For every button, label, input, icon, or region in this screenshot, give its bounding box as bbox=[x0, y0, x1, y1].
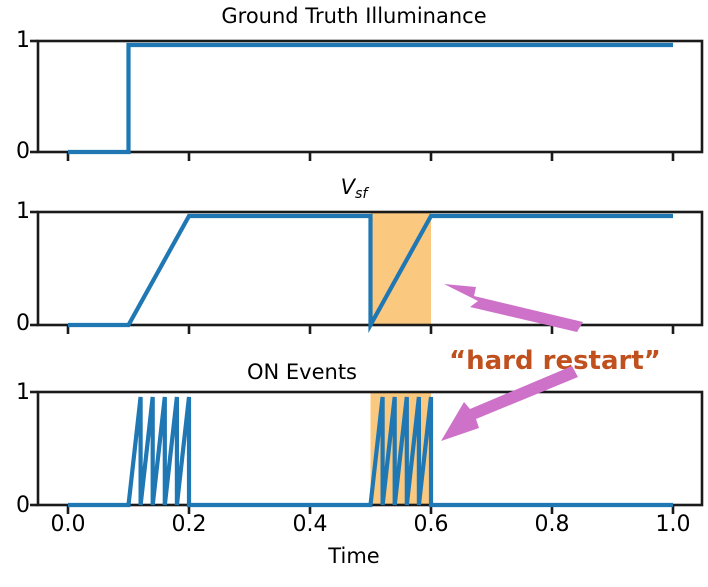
plot-area-vsf bbox=[0, 170, 708, 370]
panel-ground-truth-illuminance: Ground Truth Illuminance 1 0 bbox=[0, 0, 708, 175]
xaxis-label: Time bbox=[0, 546, 708, 567]
panel-on-events: ON Events 1 0 bbox=[0, 350, 708, 587]
xtick-label-0: 0.0 bbox=[18, 514, 118, 536]
xtick-label-4: 0.8 bbox=[502, 514, 602, 536]
axes-spine-p1 bbox=[38, 41, 702, 152]
xtick-marks-p1 bbox=[68, 152, 673, 161]
trace-ground-truth-illuminance bbox=[68, 45, 673, 152]
xtick-label-2: 0.4 bbox=[260, 514, 360, 536]
panel-vsf: Vsf 1 0 bbox=[0, 170, 708, 370]
trace-vsf bbox=[68, 216, 673, 325]
xtick-label-3: 0.6 bbox=[381, 514, 481, 536]
figure-canvas: Ground Truth Illuminance 1 0 bbox=[0, 0, 708, 587]
plot-area-ground-truth-illuminance bbox=[0, 0, 708, 175]
xtick-label-1: 0.2 bbox=[139, 514, 239, 536]
arrow-to-on-events-region bbox=[441, 366, 578, 441]
xtick-label-5: 1.0 bbox=[623, 514, 708, 536]
